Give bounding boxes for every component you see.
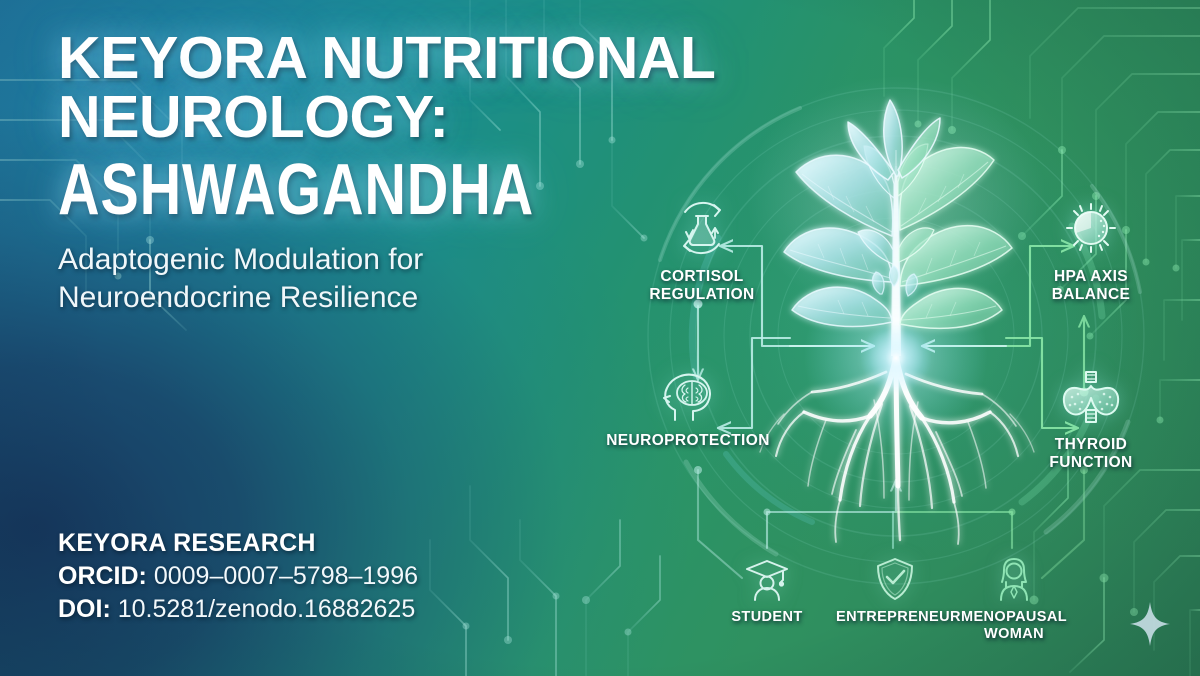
persona-menopausal-line-1: MENOPAUSAL xyxy=(958,609,1070,626)
persona-student-label: STUDENT xyxy=(714,609,820,626)
node-hpa-label: HPA AXIS BALANCE xyxy=(1012,268,1170,304)
subtitle-line-2: Neuroendocrine Resilience xyxy=(58,279,698,317)
orcid-label: ORCID: xyxy=(58,562,147,590)
persona-student[interactable]: STUDENT xyxy=(714,556,820,626)
node-hpa-axis-balance[interactable]: HPA AXIS BALANCE xyxy=(1012,196,1170,304)
node-thyroid-label: THYROID FUNCTION xyxy=(1012,436,1170,472)
node-neuroprotection[interactable]: NEUROPROTECTION xyxy=(600,368,776,450)
title-block: KEYORA NUTRITIONAL NEUROLOGY: ASHWAGANDH… xyxy=(58,30,698,316)
persona-menopausal-woman[interactable]: MENOPAUSAL WOMAN xyxy=(958,556,1070,642)
persona-menopausal-line-2: WOMAN xyxy=(958,626,1070,643)
compound-name: ASHWAGANDHA xyxy=(58,156,570,224)
node-neuroprotection-line-1: NEUROPROTECTION xyxy=(600,432,776,450)
doi-value: 10.5281/zenodo.16882625 xyxy=(118,595,416,623)
node-hpa-line-2: BALANCE xyxy=(1012,286,1170,304)
node-thyroid-line-1: THYROID xyxy=(1012,436,1170,454)
subtitle-line-1: Adaptogenic Modulation for xyxy=(58,241,698,279)
doi-row: DOI: 10.5281/zenodo.16882625 xyxy=(58,594,418,625)
organization-name: KEYORA RESEARCH xyxy=(58,528,418,559)
node-neuroprotection-label: NEUROPROTECTION xyxy=(600,432,776,450)
title-line-1: KEYORA NUTRITIONAL xyxy=(58,30,698,87)
orcid-row: ORCID: 0009–0007–5798–1996 xyxy=(58,561,418,592)
node-thyroid-line-2: FUNCTION xyxy=(1012,454,1170,472)
brain-head-icon xyxy=(655,368,721,424)
graduate-icon xyxy=(743,556,791,602)
node-hpa-line-1: HPA AXIS xyxy=(1012,268,1170,286)
doi-label: DOI: xyxy=(58,595,111,623)
shield-check-icon xyxy=(873,556,917,602)
hpa-gland-icon xyxy=(1057,196,1125,260)
poster-canvas: KEYORA NUTRITIONAL NEUROLOGY: ASHWAGANDH… xyxy=(0,0,1200,676)
subtitle: Adaptogenic Modulation for Neuroendocrin… xyxy=(58,241,698,317)
sparkle-icon xyxy=(1128,600,1172,648)
title-line-2: NEUROLOGY: xyxy=(58,89,698,146)
persona-student-line-1: STUDENT xyxy=(714,609,820,626)
thyroid-icon xyxy=(1056,366,1126,428)
orcid-value: 0009–0007–5798–1996 xyxy=(154,562,418,590)
persona-entrepreneur-label: ENTREPRENEUR xyxy=(836,609,954,626)
credits-block: KEYORA RESEARCH ORCID: 0009–0007–5798–19… xyxy=(58,528,418,625)
woman-icon xyxy=(991,556,1037,602)
node-thyroid-function[interactable]: THYROID FUNCTION xyxy=(1012,366,1170,472)
persona-menopausal-label: MENOPAUSAL WOMAN xyxy=(958,609,1070,642)
persona-entrepreneur-line-1: ENTREPRENEUR xyxy=(836,609,954,626)
persona-entrepreneur[interactable]: ENTREPRENEUR xyxy=(836,556,954,626)
